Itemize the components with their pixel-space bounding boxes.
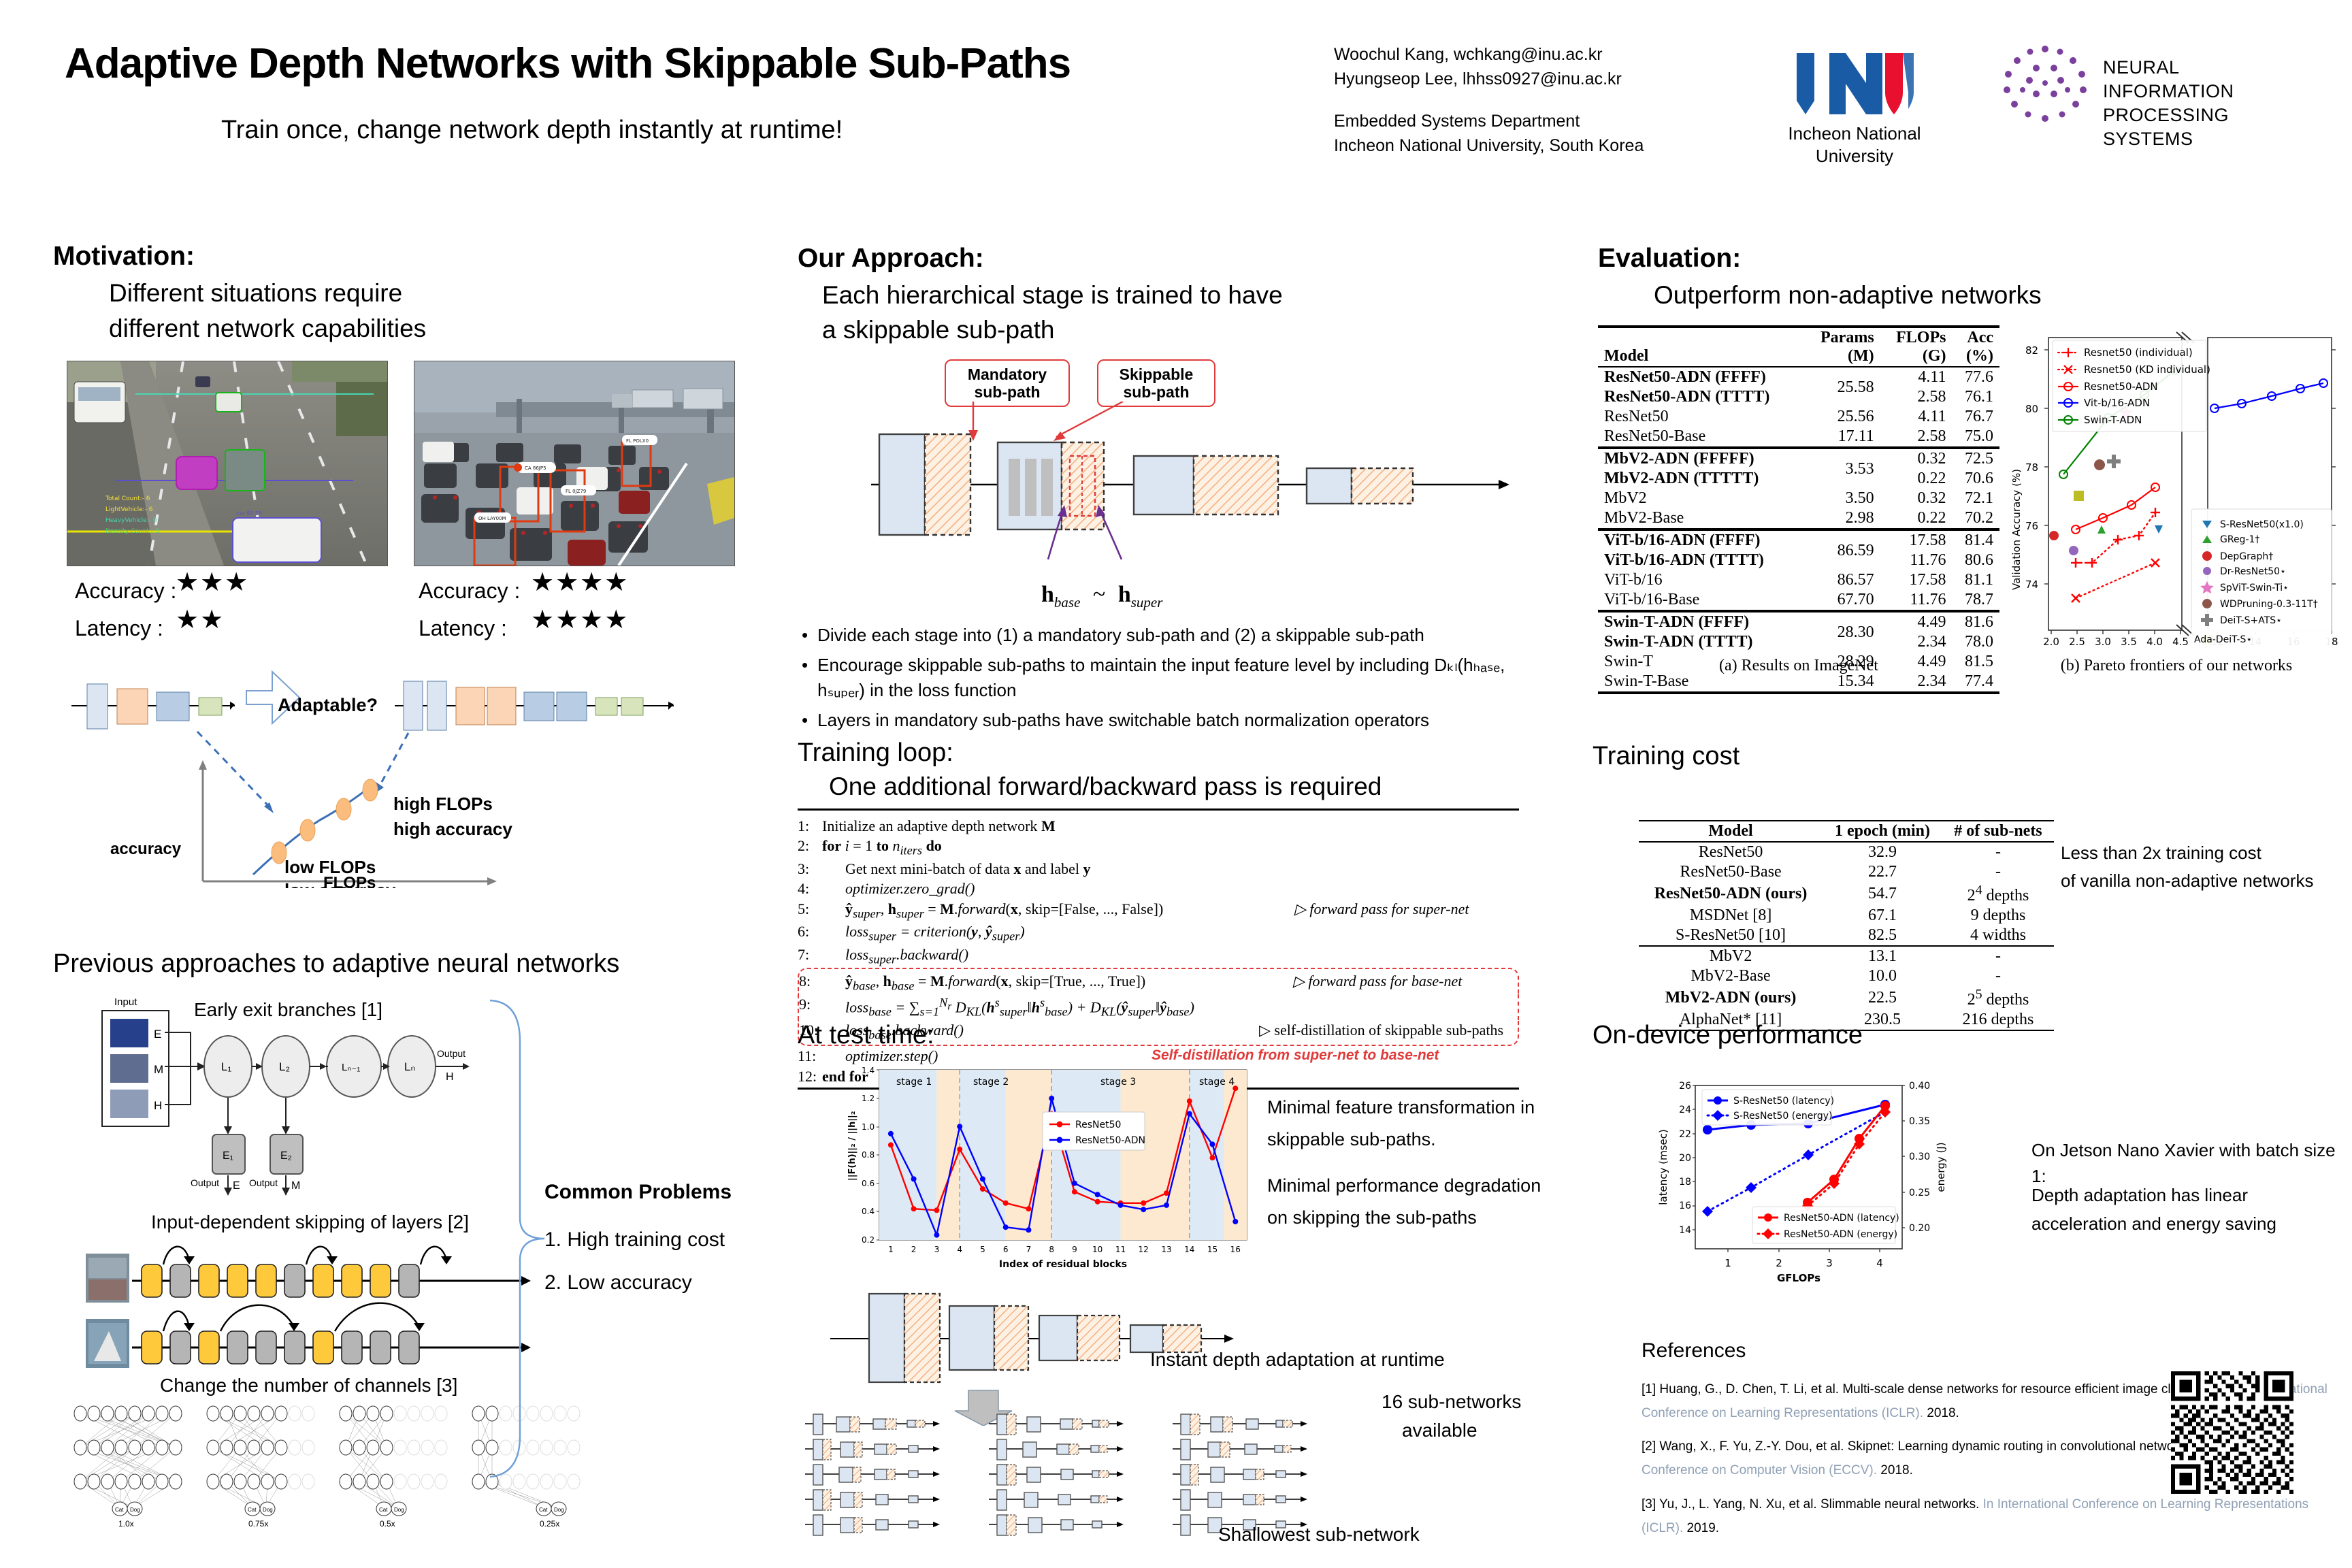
col-header-subnets: # of sub-nets <box>1942 821 2054 842</box>
cell-acc: 76.7 <box>1952 407 1999 427</box>
bullet-dot: • <box>802 653 808 703</box>
svg-text:18: 18 <box>1679 1177 1691 1188</box>
cell-acc: 72.5 <box>1952 448 1999 469</box>
svg-text:26: 26 <box>1679 1081 1691 1092</box>
evaluation-subheading: Outperform non-adaptive networks <box>1654 281 2042 310</box>
cell-flops: 2.34 <box>1880 632 1953 652</box>
svg-text:Adaptable?: Adaptable? <box>278 695 378 715</box>
svg-text:2.0: 2.0 <box>2043 636 2059 648</box>
svg-text:accuracy: accuracy <box>110 840 182 858</box>
svg-text:80: 80 <box>2025 403 2038 415</box>
accuracy-label-right: Accuracy : <box>419 575 520 606</box>
svg-text:Dr-ResNet50⋆: Dr-ResNet50⋆ <box>2220 566 2286 577</box>
table-row: ResNet5032.9- <box>1639 842 2054 862</box>
svg-text:FL 0JZ79: FL 0JZ79 <box>566 489 586 494</box>
table-row: MSDNet [8]67.19 depths <box>1639 906 2054 926</box>
svg-text:10: 10 <box>1092 1245 1102 1254</box>
svg-text:0.8: 0.8 <box>862 1150 875 1160</box>
svg-text:L₁: L₁ <box>221 1060 231 1073</box>
svg-text:22: 22 <box>1679 1129 1691 1140</box>
svg-text:||F(h)||₂ / ||h||₂: ||F(h)||₂ / ||h||₂ <box>847 1111 857 1181</box>
cell-epoch: 82.5 <box>1823 926 1942 946</box>
svg-text:E: E <box>233 1180 240 1192</box>
cell-flops: 0.32 <box>1880 489 1953 508</box>
bullet-dot: • <box>802 623 808 648</box>
cell-acc: 70.2 <box>1952 508 1999 529</box>
svg-text:1: 1 <box>888 1245 894 1254</box>
approach-heading: Our Approach: <box>798 244 984 274</box>
svg-text:5: 5 <box>980 1245 985 1254</box>
svg-text:3.0: 3.0 <box>2095 636 2111 648</box>
table-row: S-ResNet50 [10]82.54 widths <box>1639 926 2054 946</box>
layer-skipping-title: Input-dependent skipping of layers [2] <box>151 1211 469 1233</box>
svg-text:stage 1: stage 1 <box>896 1077 932 1088</box>
affiliation-block: Embedded Systems Department Incheon Nati… <box>1334 109 1644 159</box>
cell-model: MbV2-Base <box>1598 508 1804 529</box>
cell-epoch: 22.5 <box>1823 986 1942 1010</box>
svg-text:latency (msec): latency (msec) <box>1657 1129 1669 1205</box>
test-time-heading: At test time: <box>798 1021 934 1050</box>
table-row: ViT-b/16-ADN (FFFF)86.5917.5881.4 <box>1598 529 1999 551</box>
svg-text:15: 15 <box>1207 1245 1218 1254</box>
svg-text:4: 4 <box>1876 1257 1883 1269</box>
svg-text:0.35: 0.35 <box>1909 1116 1930 1127</box>
highway-congested-image: CA 86JP5 FL 0JZ79 FL POLX0 OH LAY00M <box>414 361 735 566</box>
on-device-note-1: On Jetson Nano Xavier with batch size 1: <box>2031 1138 2352 1189</box>
code-line: Get next mini-batch of data x and label … <box>822 859 1519 879</box>
table-row: MbV2-ADN (ours)22.525 depths <box>1639 986 2054 1010</box>
cell-model: ResNet50-ADN (TTTT) <box>1598 387 1804 407</box>
neurips-logo-text: NEURAL INFORMATION PROCESSING SYSTEMS <box>2103 56 2314 151</box>
col-header-params: Params (M) <box>1804 327 1880 367</box>
svg-text:Output: Output <box>191 1177 219 1188</box>
inu-logo: Incheon National University <box>1776 48 1933 163</box>
cell-model: ViT-b/16-ADN (FFFF) <box>1598 529 1804 551</box>
accuracy-stars-left: ★★★ <box>176 567 249 598</box>
code-line: optimizer.zero_grad() <box>822 879 1519 898</box>
svg-text:12: 12 <box>1139 1245 1149 1254</box>
cell-epoch: 10.0 <box>1823 966 1942 986</box>
svg-text:Dog: Dog <box>263 1507 273 1513</box>
svg-text:GFLOPs: GFLOPs <box>1777 1272 1820 1284</box>
line-number: 4: <box>798 879 822 898</box>
cell-flops: 17.58 <box>1880 529 1953 551</box>
training-loop-heading: Training loop: <box>798 738 953 768</box>
cell-model: MbV2-Base <box>1639 966 1823 986</box>
svg-text:low accuracy: low accuracy <box>284 880 396 888</box>
reference-title: [1] Huang, G., D. Chen, T. Li, et al. Mu… <box>1641 1382 2238 1396</box>
test-time-note-2: skippable sub-paths. <box>1267 1126 1436 1153</box>
svg-text:GFLOPs: GFLOPs <box>2093 651 2137 652</box>
svg-text:4.0: 4.0 <box>2146 636 2163 648</box>
svg-text:high accuracy: high accuracy <box>393 819 512 839</box>
inu-logo-caption: Incheon National University <box>1776 122 1933 167</box>
svg-text:DeiT-S+ATS⋆: DeiT-S+ATS⋆ <box>2220 615 2282 626</box>
page-title: Adaptive Depth Networks with Skippable S… <box>65 39 1071 88</box>
svg-text:GFLOPs: GFLOPs <box>2250 651 2293 652</box>
svg-text:energy (J): energy (J) <box>1935 1142 1947 1192</box>
code-line: ŷbase, hbase = M.forward(x, skip=[True, … <box>822 971 1293 994</box>
line-number: 9: <box>799 994 822 1020</box>
cell-acc: 78.0 <box>1952 632 1999 652</box>
svg-text:Validation Accuracy (%): Validation Accuracy (%) <box>2010 469 2023 590</box>
table-row: MbV2-ADN (TTTTT)0.2270.6 <box>1598 469 1999 489</box>
svg-text:1.0: 1.0 <box>862 1122 875 1132</box>
svg-text:HeavyVehicle:- 0: HeavyVehicle:- 0 <box>105 517 157 524</box>
training-cost-heading: Training cost <box>1592 742 1739 771</box>
mandatory-callout: Mandatory sub-path <box>945 359 1070 407</box>
test-time-note-1: Minimal feature transformation in <box>1267 1094 1535 1121</box>
reference-year: 2018. <box>1877 1463 1913 1477</box>
cell-params: 2.98 <box>1804 508 1880 529</box>
svg-text:0.2: 0.2 <box>862 1235 875 1245</box>
shallowest-subnetwork-label: Shallowest sub-network <box>1218 1521 1420 1549</box>
svg-text:24: 24 <box>1679 1105 1691 1115</box>
svg-text:Index of residual blocks: Index of residual blocks <box>999 1259 1127 1270</box>
code-line: losssuper.backward() <box>822 945 1519 968</box>
cell-model: ResNet50 <box>1598 407 1804 427</box>
line-number: 3: <box>798 859 822 879</box>
svg-text:20: 20 <box>1679 1153 1691 1164</box>
cell-model: MbV2-ADN (FFFFF) <box>1598 448 1804 469</box>
line-number: 5: <box>798 899 822 922</box>
svg-text:1.4: 1.4 <box>862 1066 875 1075</box>
imagenet-results-table: Model Params (M) FLOPs (G) Acc (%) ResNe… <box>1598 325 1999 694</box>
table-row: ResNet50-Base22.7- <box>1639 862 2054 882</box>
svg-text:Dog: Dog <box>394 1507 404 1513</box>
university: Incheon National University, South Korea <box>1334 133 1644 158</box>
test-time-note-3: Minimal performance degradation <box>1267 1173 1541 1199</box>
col-header-flops: FLOPs (G) <box>1880 327 1953 367</box>
svg-text:ResNet50: ResNet50 <box>1075 1120 1121 1130</box>
cell-model: ViT-b/16 <box>1598 570 1804 590</box>
table-row: Swin-T-ADN (TTTT)2.3478.0 <box>1598 632 1999 652</box>
cell-epoch: 13.1 <box>1823 946 1942 966</box>
svg-text:GReg-1†: GReg-1† <box>2220 534 2259 545</box>
svg-text:16: 16 <box>1230 1245 1241 1254</box>
cell-flops: 4.11 <box>1880 407 1953 427</box>
svg-text:Resnet50 (individual): Resnet50 (individual) <box>2084 346 2193 359</box>
line-number: 8: <box>799 971 822 994</box>
svg-text:0.25: 0.25 <box>1909 1188 1930 1198</box>
svg-text:CA 86JP5: CA 86JP5 <box>525 465 546 471</box>
accuracy-stars-right: ★★★★ <box>531 567 629 598</box>
svg-text:8: 8 <box>1049 1245 1054 1254</box>
neurips-logo: NEURAL INFORMATION PROCESSING SYSTEMS <box>1994 41 2314 136</box>
table-row: ResNet50-ADN (TTTT)2.5876.1 <box>1598 387 1999 407</box>
svg-text:stage 4: stage 4 <box>1199 1077 1235 1088</box>
on-device-note-3: acceleration and energy saving <box>2031 1211 2276 1237</box>
cell-acc: 81.4 <box>1952 529 1999 551</box>
author-2: Hyungseop Lee, lhhss0927@inu.ac.kr <box>1334 67 1622 91</box>
code-note: ▷ self-distillation of skippable sub-pat… <box>1259 1020 1518 1043</box>
svg-text:Swin-T-ADN: Swin-T-ADN <box>2084 414 2142 426</box>
line-number: 7: <box>798 945 822 968</box>
cell-acc: 77.6 <box>1952 367 1999 387</box>
svg-text:Resnet50-ADN: Resnet50-ADN <box>2084 380 2158 393</box>
table-row: MbV2-Base2.980.2270.2 <box>1598 508 1999 529</box>
svg-text:H: H <box>446 1071 454 1083</box>
common-problem-1: 1. High training cost <box>544 1228 725 1252</box>
h-relation-label: hbase ~ hsuper <box>1041 582 1162 611</box>
latency-stars-left: ★★ <box>176 604 225 635</box>
line-number: 1: <box>798 816 822 836</box>
test-time-note-4: on skipping the sub-paths <box>1267 1205 1477 1231</box>
cell-flops: 0.22 <box>1880 469 1953 489</box>
imagenet-table-caption: (a) Results on ImageNet <box>1598 657 1999 675</box>
table-row: ResNet50-ADN (ours)54.724 depths <box>1639 882 2054 906</box>
cell-flops: 11.76 <box>1880 551 1953 570</box>
svg-text:H: H <box>154 1099 162 1112</box>
svg-text:2: 2 <box>911 1245 917 1254</box>
table-row: ViT-b/1686.5717.5881.1 <box>1598 570 1999 590</box>
residual-norm-chart: stage 1 stage 2 stage 3 stage 4 0.20.40.… <box>838 1062 1260 1286</box>
training-cost-note-1: Less than 2x training cost <box>2061 840 2261 866</box>
cell-epoch: 32.9 <box>1823 842 1942 862</box>
svg-text:car 92.55: car 92.55 <box>236 510 262 517</box>
cell-model: MbV2 <box>1598 489 1804 508</box>
table-row: MbV2-Base10.0- <box>1639 966 2054 986</box>
pareto-chart: 8280787674 Validation Accuracy (%) 2.02.… <box>2006 325 2343 652</box>
svg-text:S-ResNet50(x1.0): S-ResNet50(x1.0) <box>2220 519 2304 530</box>
svg-text:0.30: 0.30 <box>1909 1151 1930 1162</box>
cell-acc: 78.7 <box>1952 590 1999 611</box>
cell-params: 86.59 <box>1804 529 1880 570</box>
svg-text:M: M <box>291 1180 300 1192</box>
svg-text:E₁: E₁ <box>223 1150 233 1162</box>
approach-bullet-1: • Divide each stage into (1) a mandatory… <box>802 623 1523 648</box>
svg-text:M: M <box>154 1063 163 1076</box>
cell-params: 67.70 <box>1804 590 1880 611</box>
line-number: 2: <box>798 836 822 859</box>
svg-text:16: 16 <box>1679 1200 1691 1211</box>
col-header-acc: Acc (%) <box>1952 327 1999 367</box>
svg-text:SpViT-Swin-Ti⋆: SpViT-Swin-Ti⋆ <box>2220 583 2289 593</box>
reference-title: [3] Yu, J., L. Yang, N. Xu, et al. Slimm… <box>1641 1497 1979 1512</box>
cell-flops: 2.58 <box>1880 427 1953 448</box>
svg-text:E₂: E₂ <box>280 1150 292 1162</box>
svg-text:6: 6 <box>1003 1245 1009 1254</box>
cell-acc: 72.1 <box>1952 489 1999 508</box>
training-cost-note-2: of vanilla non-adaptive networks <box>2061 868 2313 894</box>
cell-acc: 70.6 <box>1952 469 1999 489</box>
code-line: ŷsuper, hsuper = M.forward(x, skip=[Fals… <box>822 899 1294 922</box>
cell-model: S-ResNet50 [10] <box>1639 926 1823 946</box>
svg-text:3: 3 <box>1826 1257 1833 1269</box>
col-header-model: Model <box>1598 327 1804 367</box>
code-line: for i = 1 to niters do <box>822 836 1519 859</box>
approach-sub-2: a skippable sub-path <box>822 316 1054 344</box>
cell-acc: 76.1 <box>1952 387 1999 407</box>
svg-text:82: 82 <box>2025 344 2038 357</box>
adaptable-diagram: Adaptable? accuracy FLOPs high FLOPs <box>68 657 742 888</box>
references-heading: References <box>1641 1339 1746 1362</box>
svg-text:Total Count:- 6: Total Count:- 6 <box>105 495 150 502</box>
svg-text:2.5: 2.5 <box>2069 636 2085 648</box>
svg-text:E: E <box>154 1028 161 1041</box>
common-problems-heading: Common Problems <box>544 1181 732 1204</box>
svg-text:low FLOPs: low FLOPs <box>284 857 376 877</box>
motivation-sub-1: Different situations require <box>109 279 402 308</box>
approach-bullet-2: • Encourage skippable sub-paths to maint… <box>802 653 1523 703</box>
author-block: Woochul Kang, wchkang@inu.ac.kr Hyungseo… <box>1334 42 1622 92</box>
qr-code[interactable] <box>2171 1371 2293 1494</box>
cell-model: ResNet50 <box>1639 842 1823 862</box>
cell-subnets: 25 depths <box>1942 986 2054 1010</box>
cell-model: MbV2 <box>1639 946 1823 966</box>
code-note: ▷ forward pass for base-net <box>1293 971 1518 994</box>
svg-text:76: 76 <box>2025 520 2038 532</box>
cell-model: ResNet50-ADN (ours) <box>1639 882 1823 906</box>
cell-epoch: 67.1 <box>1823 906 1942 926</box>
svg-text:7: 7 <box>1026 1245 1032 1254</box>
cell-acc: 75.0 <box>1952 427 1999 448</box>
table-row: Swin-T-ADN (FFFF)28.304.4981.6 <box>1598 611 1999 632</box>
previous-approaches-heading: Previous approaches to adaptive neural n… <box>53 949 619 979</box>
col-header-model: Model <box>1639 821 1823 842</box>
cell-params: 25.56 <box>1804 407 1880 427</box>
cell-params: 3.50 <box>1804 489 1880 508</box>
cell-subnets: 216 depths <box>1942 1010 2054 1030</box>
cell-model: MSDNet [8] <box>1639 906 1823 926</box>
code-note: ▷ forward pass for super-net <box>1294 899 1519 922</box>
cell-acc: 81.1 <box>1952 570 1999 590</box>
svg-text:4.5: 4.5 <box>2172 636 2189 648</box>
table-row: MbV2-ADN (FFFFF)3.530.3272.5 <box>1598 448 1999 469</box>
cell-subnets: - <box>1942 862 2054 882</box>
table-row: ViT-b/16-ADN (TTTT)11.7680.6 <box>1598 551 1999 570</box>
svg-text:9: 9 <box>1072 1245 1077 1254</box>
svg-text:Cat: Cat <box>115 1507 124 1513</box>
svg-text:3: 3 <box>934 1245 940 1254</box>
inu-logo-icon <box>1790 48 1919 119</box>
svg-text:stage 2: stage 2 <box>973 1077 1009 1088</box>
svg-text:Lₙ₋₁: Lₙ₋₁ <box>342 1062 360 1073</box>
svg-text:0.40: 0.40 <box>1909 1081 1930 1092</box>
svg-text:0.6: 0.6 <box>862 1179 875 1188</box>
svg-text:S-ResNet50 (energy): S-ResNet50 (energy) <box>1733 1111 1833 1122</box>
cell-subnets: - <box>1942 946 2054 966</box>
svg-text:13: 13 <box>1161 1245 1171 1254</box>
cell-model: ResNet50-Base <box>1639 862 1823 882</box>
bullet-dot: • <box>802 708 808 733</box>
evaluation-heading: Evaluation: <box>1598 244 1741 274</box>
svg-text:Dog: Dog <box>554 1507 564 1513</box>
motivation-sub-2: different network capabilities <box>109 314 426 343</box>
svg-text:Output: Output <box>249 1177 278 1188</box>
cell-epoch: 54.7 <box>1823 882 1942 906</box>
svg-text:Vit-b/16-ADN: Vit-b/16-ADN <box>2084 397 2150 409</box>
svg-text:high FLOPs: high FLOPs <box>393 794 493 814</box>
svg-text:ResNet50-ADN: ResNet50-ADN <box>1075 1135 1145 1146</box>
cell-flops: 17.58 <box>1880 570 1953 590</box>
cell-flops: 4.49 <box>1880 611 1953 632</box>
poster-subtitle: Train once, change network depth instant… <box>221 116 843 145</box>
svg-text:78: 78 <box>2025 461 2038 474</box>
line-number: 12: <box>798 1066 822 1086</box>
cell-subnets: 4 widths <box>1942 926 2054 946</box>
cell-model: ResNet50-Base <box>1598 427 1804 448</box>
svg-text:0.5x: 0.5x <box>380 1519 395 1529</box>
common-problem-2: 2. Low accuracy <box>544 1271 692 1294</box>
svg-text:Dog: Dog <box>130 1507 140 1513</box>
training-cost-table: Model 1 epoch (min) # of sub-nets ResNet… <box>1639 820 2054 1031</box>
svg-text:ResNet50-ADN (latency): ResNet50-ADN (latency) <box>1784 1213 1899 1224</box>
on-device-chart: 262422 20181614 latency (msec) 0.400.350… <box>1637 1072 2018 1317</box>
svg-text:WDPruning-0.3-11T†: WDPruning-0.3-11T† <box>2220 599 2318 610</box>
cell-model: Swin-T-ADN (TTTT) <box>1598 632 1804 652</box>
cell-params: 86.57 <box>1804 570 1880 590</box>
code-line: Initialize an adaptive depth network M <box>822 816 1519 836</box>
svg-text:ResNet50-ADN (energy): ResNet50-ADN (energy) <box>1784 1229 1897 1240</box>
svg-text:1.2: 1.2 <box>862 1094 875 1103</box>
svg-text:Lₙ: Lₙ <box>404 1060 415 1073</box>
reference-title: [2] Wang, X., F. Yu, Z.-Y. Dou, et al. S… <box>1641 1439 2195 1454</box>
table-row: ResNet50-ADN (FFFF)25.584.1177.6 <box>1598 367 1999 387</box>
reference-item: [3] Yu, J., L. Yang, N. Xu, et al. Slimm… <box>1641 1492 2336 1540</box>
svg-text:Density Count:- 3: Density Count:- 3 <box>105 528 159 535</box>
line-number: 6: <box>798 921 822 945</box>
svg-text:0.4: 0.4 <box>862 1207 875 1216</box>
svg-text:Cat: Cat <box>248 1507 257 1513</box>
svg-text:Cat: Cat <box>379 1507 388 1513</box>
cell-params: 28.30 <box>1804 611 1880 652</box>
svg-text:Resnet50 (KD individual): Resnet50 (KD individual) <box>2084 363 2210 376</box>
svg-text:1.0x: 1.0x <box>118 1519 134 1529</box>
cell-flops: 0.22 <box>1880 508 1953 529</box>
cell-model: MbV2-ADN (TTTTT) <box>1598 469 1804 489</box>
table-row: ResNet5025.564.1176.7 <box>1598 407 1999 427</box>
skippable-callout: Skippable sub-path <box>1097 359 1215 407</box>
latency-label-right: Latency : <box>419 612 507 644</box>
cell-flops: 4.11 <box>1880 367 1953 387</box>
cell-params: 3.53 <box>1804 448 1880 489</box>
svg-text:11: 11 <box>1115 1245 1126 1254</box>
on-device-heading: On-device performance <box>1592 1021 1863 1050</box>
table-row: MbV23.500.3272.1 <box>1598 489 1999 508</box>
cell-flops: 2.58 <box>1880 387 1953 407</box>
cell-model: ResNet50-ADN (FFFF) <box>1598 367 1804 387</box>
svg-text:OH LAY00M: OH LAY00M <box>478 516 506 521</box>
svg-text:0.75x: 0.75x <box>248 1519 268 1529</box>
svg-text:1: 1 <box>1725 1257 1731 1269</box>
motivation-heading: Motivation: <box>53 242 195 272</box>
slimmable-title: Change the number of channels [3] <box>160 1375 457 1396</box>
subnetworks-grid <box>800 1409 1371 1538</box>
cell-subnets: 24 depths <box>1942 882 2054 906</box>
table-row: ViT-b/16-Base67.7011.7678.7 <box>1598 590 1999 611</box>
cell-params: 17.11 <box>1804 427 1880 448</box>
cell-model: Swin-T-ADN (FFFF) <box>1598 611 1804 632</box>
svg-text:stage 3: stage 3 <box>1100 1077 1136 1088</box>
cell-acc: 81.6 <box>1952 611 1999 632</box>
svg-text:0.20: 0.20 <box>1909 1223 1930 1234</box>
latency-stars-right: ★★★★ <box>531 604 629 635</box>
subnetworks-count-line1: 16 sub-networks <box>1382 1388 1521 1416</box>
cell-subnets: - <box>1942 842 2054 862</box>
svg-text:L₂: L₂ <box>279 1060 290 1073</box>
cell-acc: 80.6 <box>1952 551 1999 570</box>
highway-freeflow-image: Total Count:- 6 LightVehicle:- 6 HeavyVe… <box>67 361 388 566</box>
svg-text:2: 2 <box>1776 1257 1782 1269</box>
approach-bullet-3: • Layers in mandatory sub-paths have swi… <box>802 708 1523 733</box>
svg-text:4: 4 <box>957 1245 962 1254</box>
table-row: ResNet50-Base17.112.5875.0 <box>1598 427 1999 448</box>
cell-params: 25.58 <box>1804 367 1880 407</box>
cell-model: MbV2-ADN (ours) <box>1639 986 1823 1010</box>
cell-flops: 11.76 <box>1880 590 1953 611</box>
department: Embedded Systems Department <box>1334 109 1644 133</box>
